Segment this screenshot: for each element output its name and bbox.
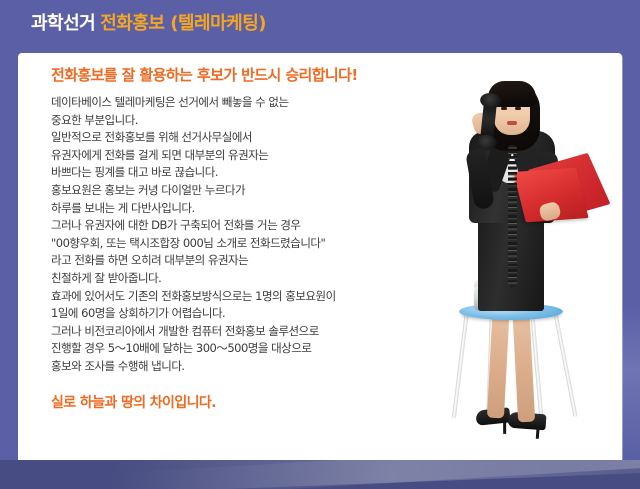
stool-leg-icon (553, 311, 578, 418)
body-line: 그러나 비전코리아에서 개발한 컴퓨터 전화홍보 솔루션으로 (51, 323, 451, 341)
footer-band (0, 460, 640, 489)
telemarketer-photo (412, 53, 622, 460)
copy-block: 전화홍보를 잘 활용하는 후보가 반드시 승리합니다! 데이타베이스 텔레마케팅… (51, 65, 451, 413)
headline: 전화홍보를 잘 활용하는 후보가 반드시 승리합니다! (51, 65, 451, 85)
content-panel: 전화홍보를 잘 활용하는 후보가 반드시 승리합니다! 데이타베이스 텔레마케팅… (18, 53, 622, 460)
body-line: 유권자에게 전화를 걸게 되면 대부분의 유권자는 (51, 147, 451, 165)
telephone-handset-icon (480, 96, 498, 145)
body-line: 홍보와 조사를 수행해 냅니다. (51, 358, 451, 376)
person-eye (501, 107, 507, 110)
body-line: 홍보요원은 홍보는 커녕 다이얼만 누르다가 (51, 182, 451, 200)
page-title: 과학선거전화홍보 (텔레마케팅) (31, 13, 266, 35)
person-mouth (507, 121, 517, 125)
body-line: 데이타베이스 텔레마케팅은 선거에서 빼놓을 수 없는 (51, 94, 451, 112)
closing-statement: 실로 하늘과 땅의 차이입니다. (51, 393, 451, 413)
slide-root: 과학선거전화홍보 (텔레마케팅) 전화홍보를 잘 활용하는 후보가 반드시 승리… (0, 0, 640, 489)
page-title-primary: 과학선거 (31, 13, 95, 34)
body-line: 일반적으로 전화홍보를 위해 선거사무실에서 (51, 129, 451, 147)
body-line: 라고 전화를 하면 오히려 대부분의 유권자는 (51, 252, 451, 270)
body-line: 1일에 60명을 상회하기가 어렵습니다. (51, 305, 451, 323)
body-line: 하루를 보내는 게 다반사입니다. (51, 200, 451, 218)
body-line: 그러나 유권자에 대한 DB가 구축되어 전화를 거는 경우 (51, 217, 451, 235)
page-title-secondary: 전화홍보 (텔레마케팅) (100, 13, 266, 34)
body-line: 바쁘다는 핑계를 대고 바로 끊습니다. (51, 164, 451, 182)
body-line: 친절하게 잘 받아줍니다. (51, 270, 451, 288)
body-line: 효과에 있어서도 기존의 전화홍보방식으로는 1명의 홍보요원이 (51, 288, 451, 306)
stool-leg-icon (452, 311, 469, 419)
telephone-cord-icon (508, 145, 517, 287)
body-line: 진행할 경우 5〜10배에 달하는 300〜500명을 대상으로 (51, 340, 451, 358)
body-line: 중요한 부분입니다. (51, 112, 451, 130)
body-line: "00향우회, 또는 택시조합장 000님 소개로 전화드렸습니다" (51, 235, 451, 253)
right-edge-gradient (622, 54, 640, 460)
person-eye (515, 107, 521, 110)
